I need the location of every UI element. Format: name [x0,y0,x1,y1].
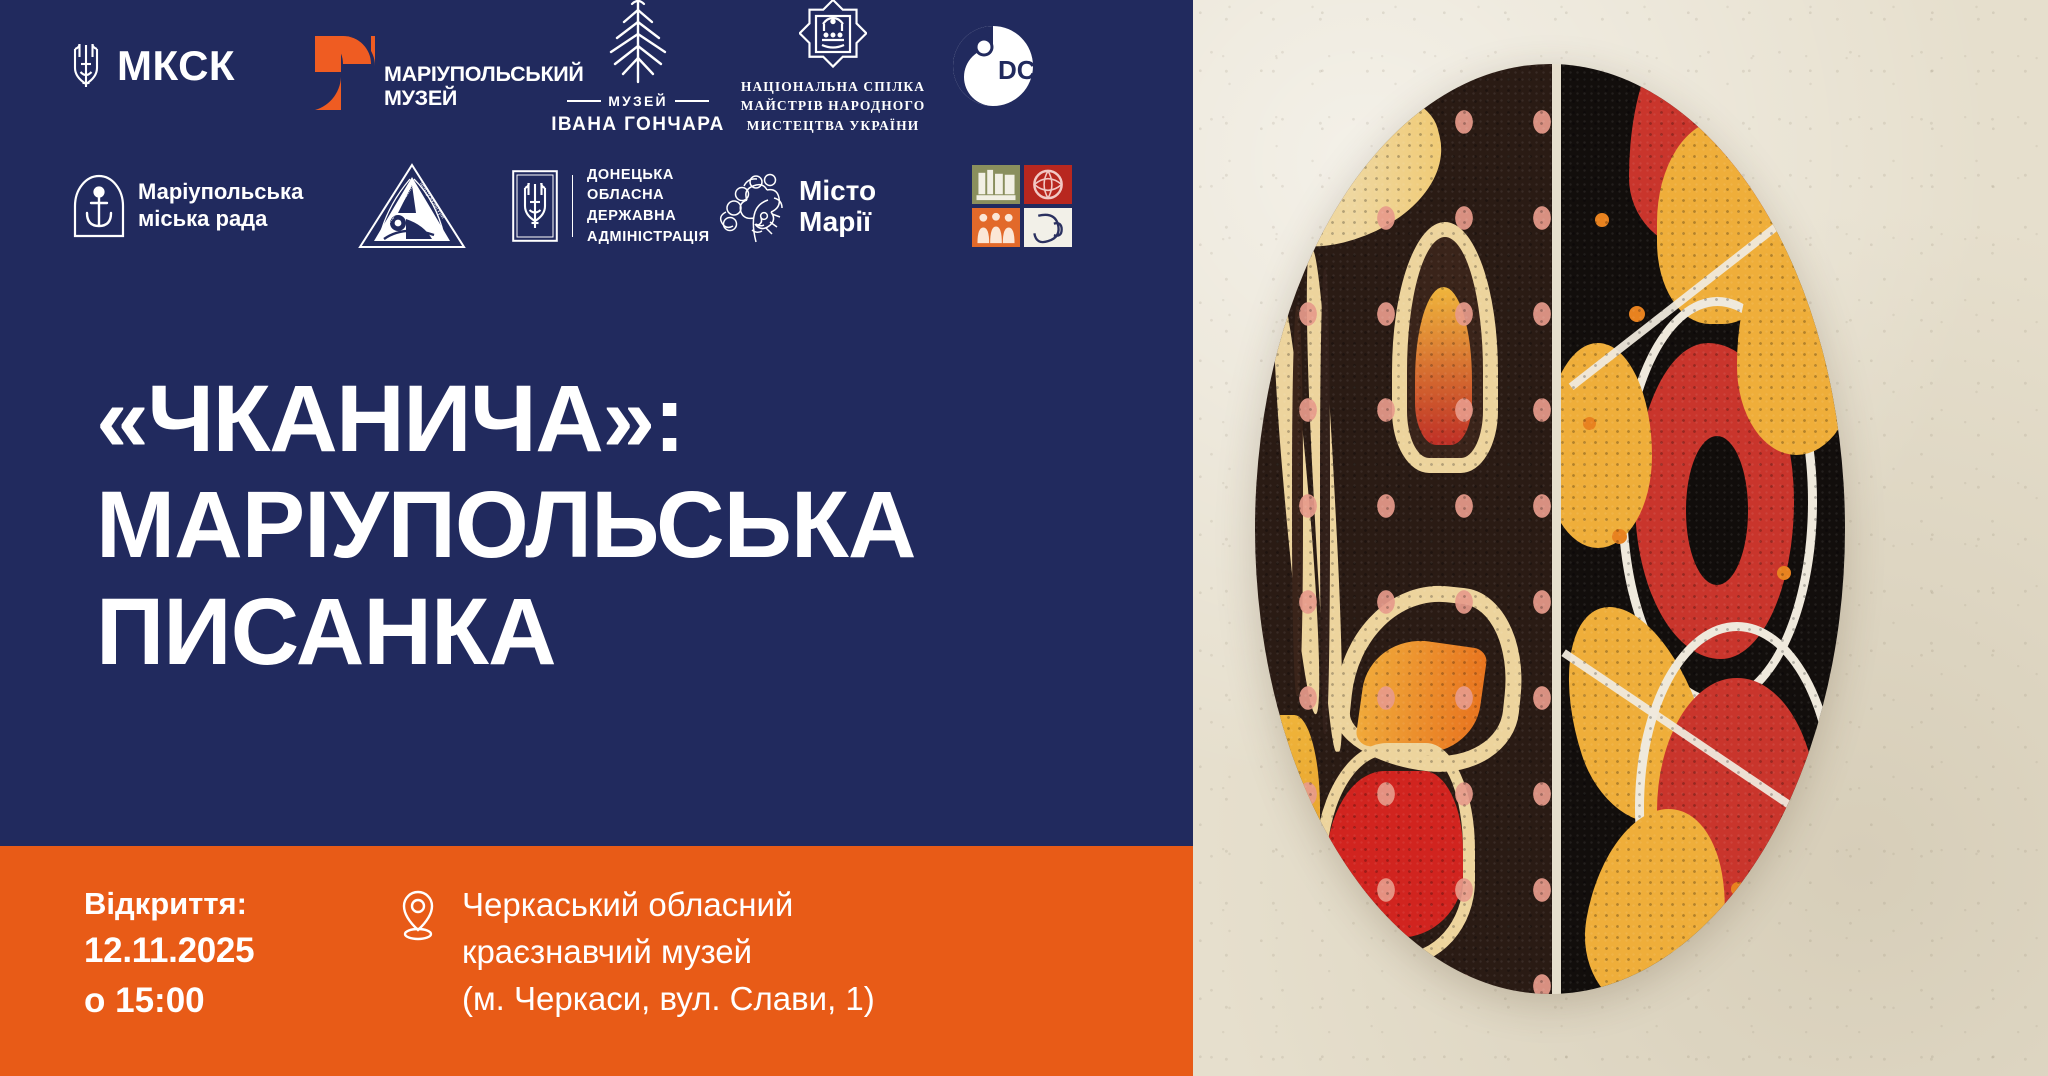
venue-line-2: краєзнавчий музей [462,929,875,976]
title-line-3: ПИСАНКА [96,579,1156,685]
rule-left [567,100,601,102]
dra-wordmark: ДОНЕЦЬКА ОБЛАСНА ДЕРЖАВНА АДМІНІСТРАЦІЯ [587,165,710,247]
dra-line-1: ДОНЕЦЬКА [587,165,710,186]
egg-oval [1255,64,1845,994]
svg-text:DC: DC [998,55,1035,85]
mariupol-city-council-wordmark: Маріупольська міська рада [138,179,303,233]
pattern-pink-dots [1255,64,1552,994]
nsm-line-2: МАЙСТРІВ НАРОДНОГО [741,96,926,115]
mksk-logo: МКСК [68,38,313,94]
poster-title: «ЧКАНИЧА»: МАРІУПОЛЬСЬКА ПИСАНКА [96,366,1156,685]
anchor-in-circle-icon [72,173,126,239]
mcc-line-2: міська рада [138,206,303,233]
dot-orange-2 [1629,306,1645,322]
books-square [972,165,1020,204]
rule-right [675,100,709,102]
egg-right-half [1561,64,1845,994]
floral-head-profile-icon [712,168,788,244]
map-pin-icon [396,888,440,944]
egg-halves-gap [1552,64,1561,994]
ukraine-coat-of-arms-icon [512,170,558,242]
dot-orange-4 [1612,529,1627,544]
culture-center-logo: Донецький обласний центр культури [312,161,512,251]
opening-time: о 15:00 [84,976,334,1026]
divider [572,175,573,237]
dot-orange-5 [1777,566,1791,580]
figures-square [972,208,1020,247]
mariupol-museum-mark-icon [313,34,375,112]
octagram-emblem-icon [799,0,867,69]
sphere-square [1024,165,1072,204]
triangular-script-emblem-icon: Донецький обласний центр культури [354,161,470,251]
title-line-2: МАРІУПОЛЬСЬКА [96,472,1156,578]
honchar-line-2: ІВАНА ГОНЧАРА [551,114,725,136]
flower-core-black [1686,436,1749,585]
opening-date-block: Відкриття: 12.11.2025 о 15:00 [84,882,334,1025]
title-line-1: «ЧКАНИЧА»: [96,366,1156,472]
ivan-honchar-museum-logo: МУЗЕЙ ІВАНА ГОНЧАРА [543,0,733,136]
opening-label: Відкриття: [84,882,334,926]
circular-dc-emblem-icon: DC [951,24,1035,108]
misto-marii-wordmark: Місто Марії [799,175,876,238]
dra-line-3: ДЕРЖАВНА [587,206,710,227]
mcc-line-1: Маріупольська [138,179,303,206]
nsm-line-3: МИСТЕЦТВА УКРАЇНИ [741,116,926,135]
venue-line-3: (м. Черкаси, вул. Слави, 1) [462,976,875,1023]
honchar-line-1: МУЗЕЙ [608,93,668,109]
dot-orange-1 [1595,213,1609,227]
venue-address: Черкаський обласний краєзнавчий музей (м… [462,882,875,1023]
opening-date: 12.11.2025 [84,926,334,976]
wheat-sheaf-icon [599,0,677,88]
national-union-folk-art-masters-logo: НАЦІОНАЛЬНА СПІЛКА МАЙСТРІВ НАРОДНОГО МИ… [733,0,933,135]
mariupol-museum-logo: МАРІУПОЛЬСЬКИЙ МУЗЕЙ [313,20,543,112]
dra-line-2: ОБЛАСНА [587,185,710,206]
vessel-square [1024,208,1072,247]
dra-line-4: АДМІНІСТРАЦІЯ [587,227,710,248]
museum-collections-logo [962,165,1082,247]
honchar-label-museum: МУЗЕЙ [567,93,709,109]
venue-line-1: Черкаський обласний [462,882,875,929]
egg-left-half [1255,64,1552,994]
ukraine-trident-icon [68,38,104,94]
pysanka-photograph [1193,0,2048,1076]
logo-row-2: Маріупольська міська рада [0,140,1200,272]
mariupol-city-council-logo: Маріупольська міська рада [72,173,312,239]
misto-marii-logo: Місто Марії [712,168,962,244]
venue-block: Черкаський обласний краєзнавчий музей (м… [396,882,875,1023]
misto-marii-line-2: Марії [799,206,876,237]
event-poster: МКСК [0,0,2048,1076]
four-square-collage-icon [972,165,1072,247]
pysanka-egg [1255,64,1845,994]
logo-row-1: МКСК [0,0,1200,132]
event-details-banner: Відкриття: 12.11.2025 о 15:00 Черкаський [0,846,1245,1076]
donetsk-regional-administration-logo: ДОНЕЦЬКА ОБЛАСНА ДЕРЖАВНА АДМІНІСТРАЦІЯ [512,165,712,247]
partner-logos: МКСК [0,0,1200,272]
petal-yellow-left [1561,343,1652,548]
misto-marii-line-1: Місто [799,175,876,206]
nsm-wordmark: НАЦІОНАЛЬНА СПІЛКА МАЙСТРІВ НАРОДНОГО МИ… [741,77,926,134]
dc-logo: DC [933,24,1053,108]
nsm-line-1: НАЦІОНАЛЬНА СПІЛКА [741,77,926,96]
mksk-abbreviation: МКСК [117,45,235,87]
